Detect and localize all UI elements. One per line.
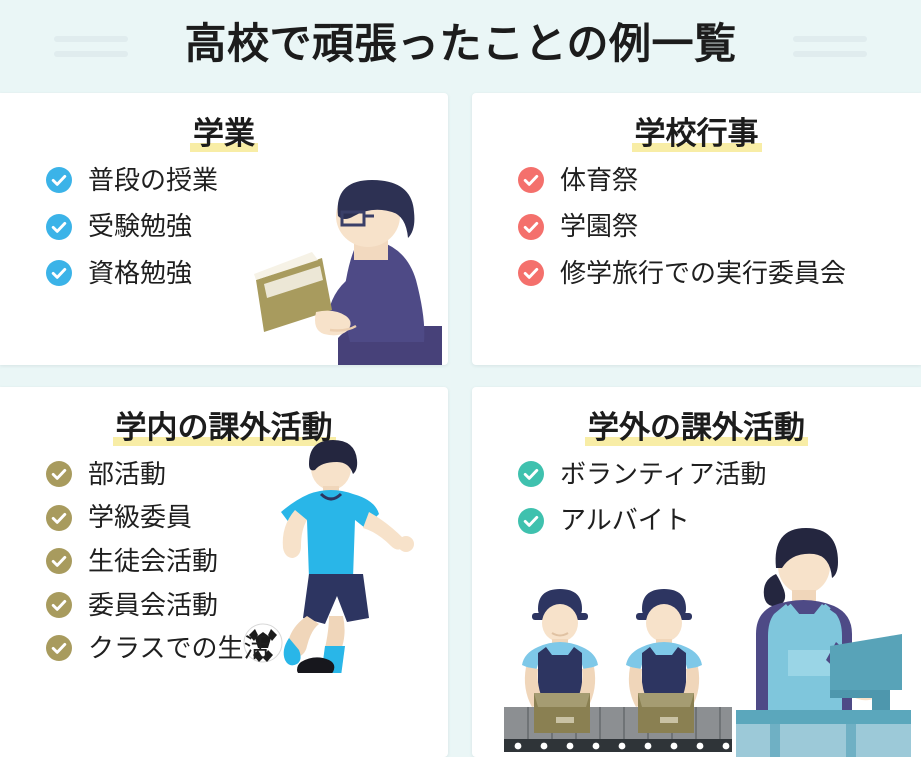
warehouse-workers-illustration bbox=[498, 567, 738, 757]
cashier-illustration bbox=[726, 522, 911, 757]
list-item: 体育祭 bbox=[518, 166, 921, 195]
list-item-label: 学園祭 bbox=[560, 212, 638, 241]
title-decoration-left-icon bbox=[54, 32, 128, 57]
card-in-school-extracurricular: 学内の課外活動 部活動 学級委員 bbox=[0, 387, 448, 757]
card-item-list: 普段の授業 受験勉強 資格勉強 bbox=[0, 166, 448, 288]
card-school-events: 学校行事 体育祭 学園祭 bbox=[472, 93, 921, 365]
list-item-label: ボランティア活動 bbox=[560, 460, 766, 489]
check-circle-icon bbox=[46, 260, 72, 286]
list-item: 学級委員 bbox=[46, 503, 448, 532]
list-item: アルバイト bbox=[518, 506, 921, 535]
card-item-list: ボランティア活動 アルバイト bbox=[472, 460, 921, 535]
page-header: 高校で頑張ったことの例一覧 bbox=[0, 0, 921, 88]
card-item-list: 部活動 学級委員 生徒会活動 bbox=[0, 460, 448, 663]
card-out-of-school-extracurricular: 学外の課外活動 ボランティア活動 アルバイト bbox=[472, 387, 921, 757]
list-item-label: アルバイト bbox=[560, 506, 690, 535]
check-circle-icon bbox=[46, 505, 72, 531]
card-title: 学内の課外活動 bbox=[113, 411, 336, 446]
check-circle-icon bbox=[518, 508, 544, 534]
check-circle-icon bbox=[46, 635, 72, 661]
card-title: 学業 bbox=[190, 117, 258, 152]
card-header: 学外の課外活動 bbox=[472, 387, 921, 446]
list-item-label: 部活動 bbox=[88, 460, 166, 489]
check-circle-icon bbox=[518, 461, 544, 487]
check-circle-icon bbox=[46, 167, 72, 193]
check-circle-icon bbox=[46, 214, 72, 240]
check-circle-icon bbox=[518, 167, 544, 193]
list-item-label: 生徒会活動 bbox=[88, 547, 218, 576]
check-circle-icon bbox=[518, 214, 544, 240]
list-item-label: 資格勉強 bbox=[88, 259, 192, 288]
list-item: 学園祭 bbox=[518, 212, 921, 241]
infographic-page: 高校で頑張ったことの例一覧 学業 普段の授業 bbox=[0, 0, 921, 757]
check-circle-icon bbox=[518, 260, 544, 286]
card-header: 学校行事 bbox=[472, 93, 921, 152]
list-item: 普段の授業 bbox=[46, 166, 448, 195]
list-item: 資格勉強 bbox=[46, 259, 448, 288]
card-header: 学内の課外活動 bbox=[0, 387, 448, 446]
title-decoration-right-icon bbox=[793, 32, 867, 57]
list-item: 生徒会活動 bbox=[46, 547, 448, 576]
list-item-label: 体育祭 bbox=[560, 166, 638, 195]
list-item-label: 受験勉強 bbox=[88, 212, 192, 241]
list-item-label: 普段の授業 bbox=[88, 166, 218, 195]
list-item: クラスでの生活 bbox=[46, 634, 448, 663]
list-item: 委員会活動 bbox=[46, 591, 448, 620]
check-circle-icon bbox=[46, 461, 72, 487]
check-circle-icon bbox=[46, 592, 72, 618]
list-item-label: 委員会活動 bbox=[88, 591, 218, 620]
list-item: 部活動 bbox=[46, 460, 448, 489]
page-title: 高校で頑張ったことの例一覧 bbox=[184, 23, 736, 65]
card-title: 学校行事 bbox=[632, 117, 762, 152]
card-title: 学外の課外活動 bbox=[585, 411, 808, 446]
card-grid: 学業 普段の授業 受験勉強 bbox=[0, 93, 921, 757]
list-item: 受験勉強 bbox=[46, 212, 448, 241]
list-item-label: クラスでの生活 bbox=[88, 634, 269, 663]
card-item-list: 体育祭 学園祭 修学旅行での実行委員会 bbox=[472, 166, 921, 288]
list-item-label: 修学旅行での実行委員会 bbox=[560, 259, 846, 288]
card-header: 学業 bbox=[0, 93, 448, 152]
list-item: ボランティア活動 bbox=[518, 460, 921, 489]
check-circle-icon bbox=[46, 548, 72, 574]
list-item-label: 学級委員 bbox=[88, 503, 192, 532]
card-academics: 学業 普段の授業 受験勉強 bbox=[0, 93, 448, 365]
list-item: 修学旅行での実行委員会 bbox=[518, 259, 921, 288]
